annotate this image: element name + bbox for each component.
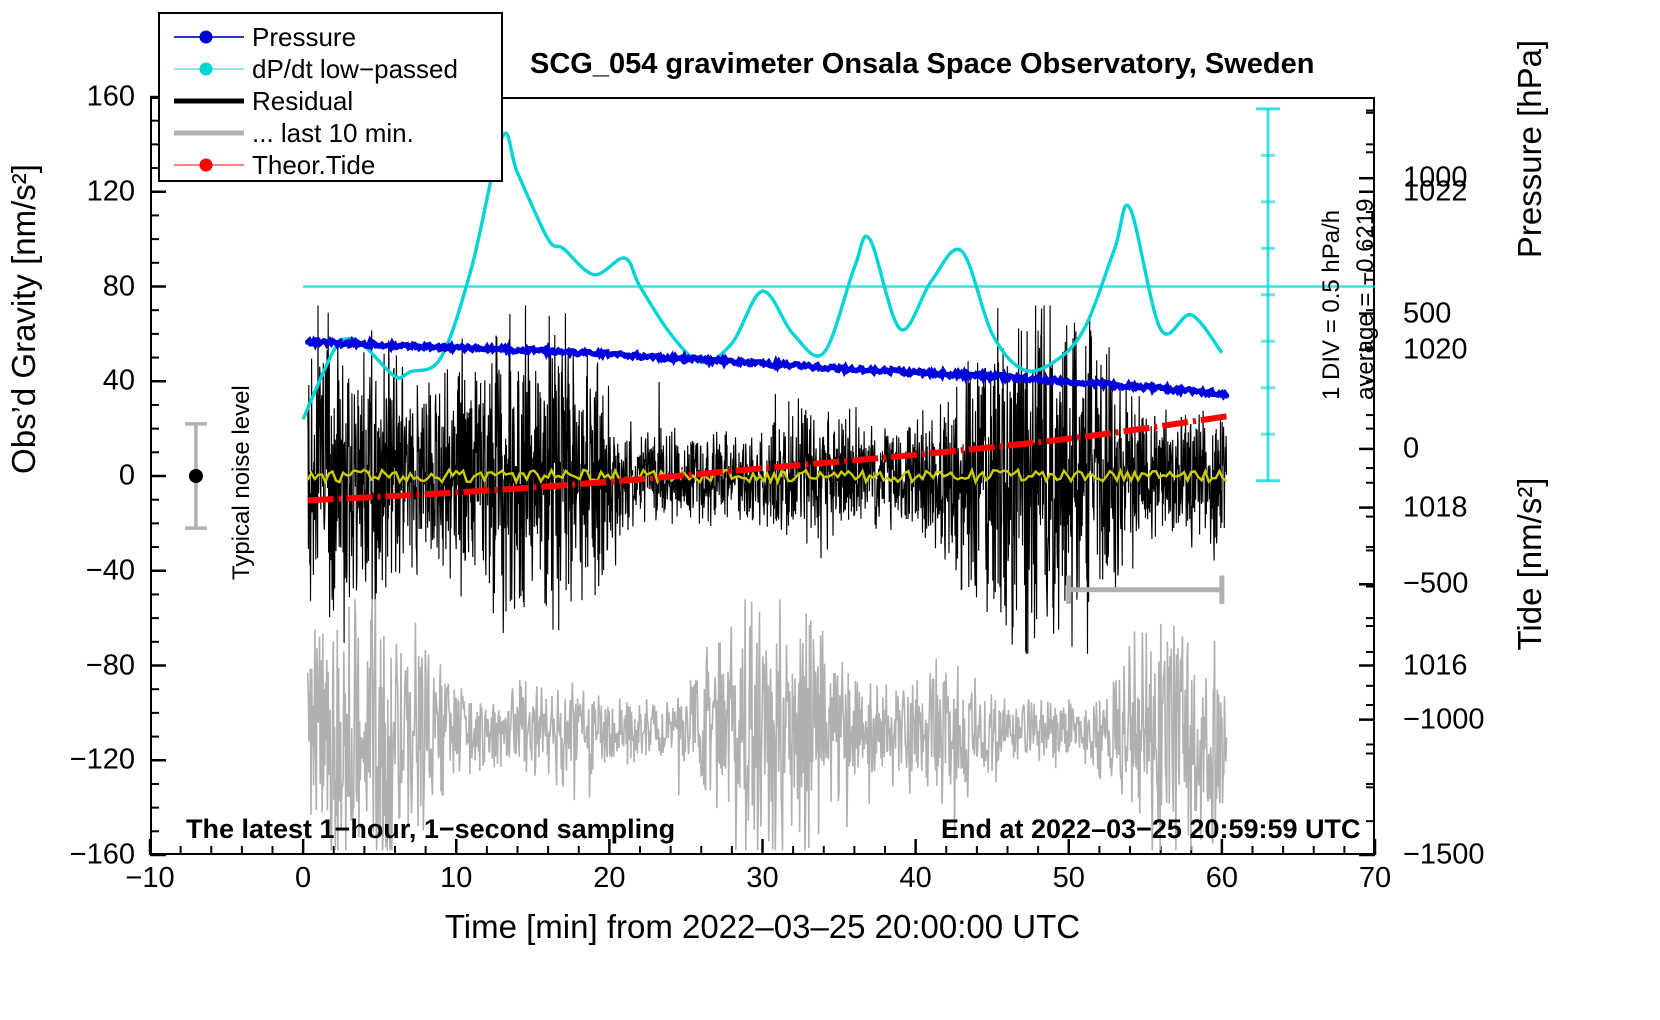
legend-item-tide[interactable]: Theor.Tide [160, 150, 501, 180]
legend-label-residual: Residual [252, 86, 353, 117]
noise-level-annotation: Typical noise level [228, 385, 256, 580]
y-tick-pressure-3: 1016 [1403, 649, 1468, 682]
x-tick-5: 40 [899, 862, 931, 895]
average-annotation: average = −0.6219 [1352, 198, 1380, 400]
gravimeter-plot: SCG_054 gravimeter Onsala Space Observat… [0, 0, 1660, 1020]
x-tick-6: 50 [1053, 862, 1085, 895]
legend-label-pressure: Pressure [252, 22, 356, 53]
y-tick-tide-5: −1500 [1403, 839, 1484, 872]
legend[interactable]: Pressure dP/dt low−passed Residual ... l… [158, 12, 503, 182]
y-tick-left-0: 160 [55, 81, 135, 114]
x-tick-7: 60 [1206, 862, 1238, 895]
y-tick-tide-1: 500 [1403, 297, 1451, 330]
legend-label-tide: Theor.Tide [252, 150, 375, 181]
x-tick-0: −10 [125, 862, 174, 895]
y-tick-left-2: 80 [55, 270, 135, 303]
y-tick-tide-0: 1000 [1403, 162, 1468, 195]
legend-swatch-residual [160, 86, 252, 116]
y-axis-tide-title: Tide [nm/s²] [1511, 414, 1549, 714]
legend-swatch-last10 [160, 118, 252, 148]
plot-frame [150, 97, 1375, 855]
y-tick-left-1: 120 [55, 175, 135, 208]
legend-item-residual[interactable]: Residual [160, 86, 501, 116]
x-tick-1: 0 [295, 862, 311, 895]
y-tick-left-6: −80 [55, 649, 135, 682]
y-tick-tide-2: 0 [1403, 432, 1419, 465]
y-tick-tide-4: −1000 [1403, 703, 1484, 736]
x-tick-2: 10 [440, 862, 472, 895]
chart-title: SCG_054 gravimeter Onsala Space Observat… [530, 48, 1314, 81]
x-tick-4: 30 [746, 862, 778, 895]
footer-right-annotation: End at 2022–03−25 20:59:59 UTC [941, 814, 1361, 845]
y-tick-left-8: −160 [55, 839, 135, 872]
y-axis-pressure-title: Pressure [hPa] [1511, 0, 1549, 299]
div-scale-annotation: 1 DIV = 0.5 hPa/h [1318, 210, 1346, 400]
x-tick-8: 70 [1359, 862, 1391, 895]
y-tick-left-4: 0 [55, 460, 135, 493]
legend-label-dpdt: dP/dt low−passed [252, 54, 458, 85]
legend-swatch-dpdt [160, 54, 252, 84]
y-tick-pressure-1: 1020 [1403, 333, 1468, 366]
y-tick-left-3: 40 [55, 365, 135, 398]
x-tick-3: 20 [593, 862, 625, 895]
legend-swatch-pressure [160, 22, 252, 52]
legend-swatch-tide [160, 150, 252, 180]
x-axis-title: Time [min] from 2022–03–25 20:00:00 UTC [150, 908, 1375, 946]
y-axis-left-title: Obs’d Gravity [nm/s²] [5, 109, 43, 529]
legend-item-dpdt[interactable]: dP/dt low−passed [160, 54, 501, 84]
footer-left-annotation: The latest 1−hour, 1−second sampling [186, 814, 675, 845]
legend-item-pressure[interactable]: Pressure [160, 22, 501, 52]
legend-label-last10: ... last 10 min. [252, 118, 414, 149]
y-tick-left-7: −120 [55, 744, 135, 777]
y-tick-tide-3: −500 [1403, 568, 1468, 601]
y-tick-pressure-2: 1018 [1403, 491, 1468, 524]
y-tick-left-5: −40 [55, 554, 135, 587]
legend-item-last10[interactable]: ... last 10 min. [160, 118, 501, 148]
